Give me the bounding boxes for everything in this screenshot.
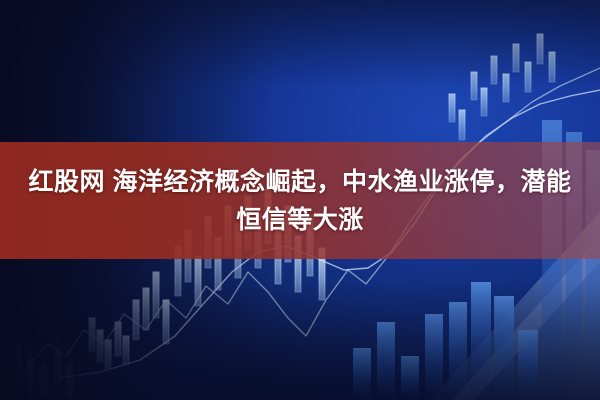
headline-banner: 红股网 海洋经济概念崛起，中水渔业涨停，潜能恒信等大涨: [0, 142, 600, 259]
news-thumbnail: 红股网 海洋经济概念崛起，中水渔业涨停，潜能恒信等大涨: [0, 0, 600, 400]
headline-text: 红股网 海洋经济概念崛起，中水渔业涨停，潜能恒信等大涨: [20, 163, 580, 239]
